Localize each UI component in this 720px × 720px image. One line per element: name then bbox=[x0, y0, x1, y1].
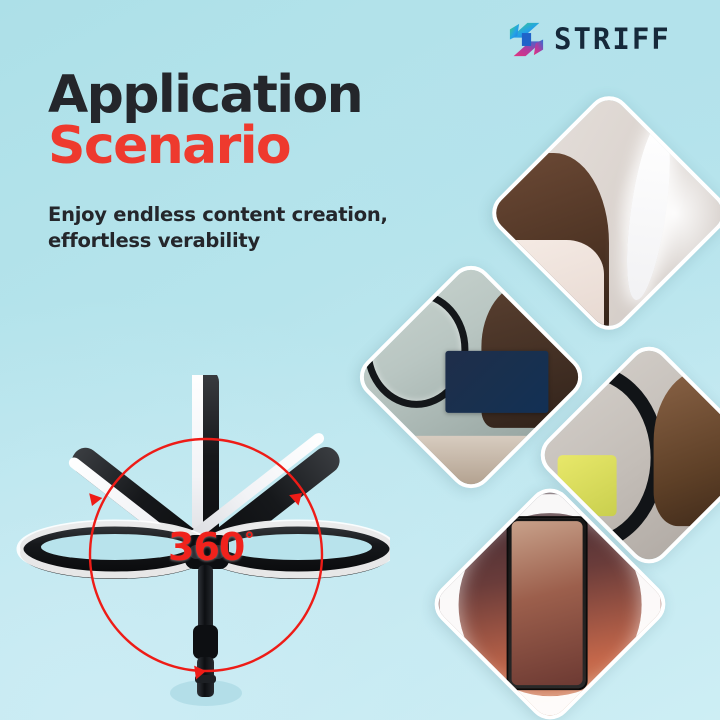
subheading-line-1: Enjoy endless content creation, bbox=[48, 202, 398, 228]
brand-wordmark: STRIFF bbox=[554, 25, 671, 54]
headline-line-1: Application bbox=[48, 70, 448, 121]
rotation-label: 360° bbox=[168, 528, 253, 566]
degree-symbol: ° bbox=[244, 527, 253, 551]
subheading: Enjoy endless content creation, effortle… bbox=[48, 202, 398, 253]
photo-tile-makeup bbox=[483, 87, 720, 339]
striff-double-arrow-logo-icon bbox=[508, 22, 545, 57]
poster-canvas: STRIFF Application Scenario Enjoy endles… bbox=[0, 0, 720, 720]
rotation-value: 360 bbox=[168, 525, 244, 569]
page-title: Application Scenario bbox=[48, 70, 448, 173]
headline-line-2: Scenario bbox=[48, 121, 448, 172]
brand-logo: STRIFF bbox=[508, 22, 671, 57]
photo-makeup-image bbox=[483, 87, 720, 339]
subheading-line-2: effortless verability bbox=[48, 228, 398, 254]
